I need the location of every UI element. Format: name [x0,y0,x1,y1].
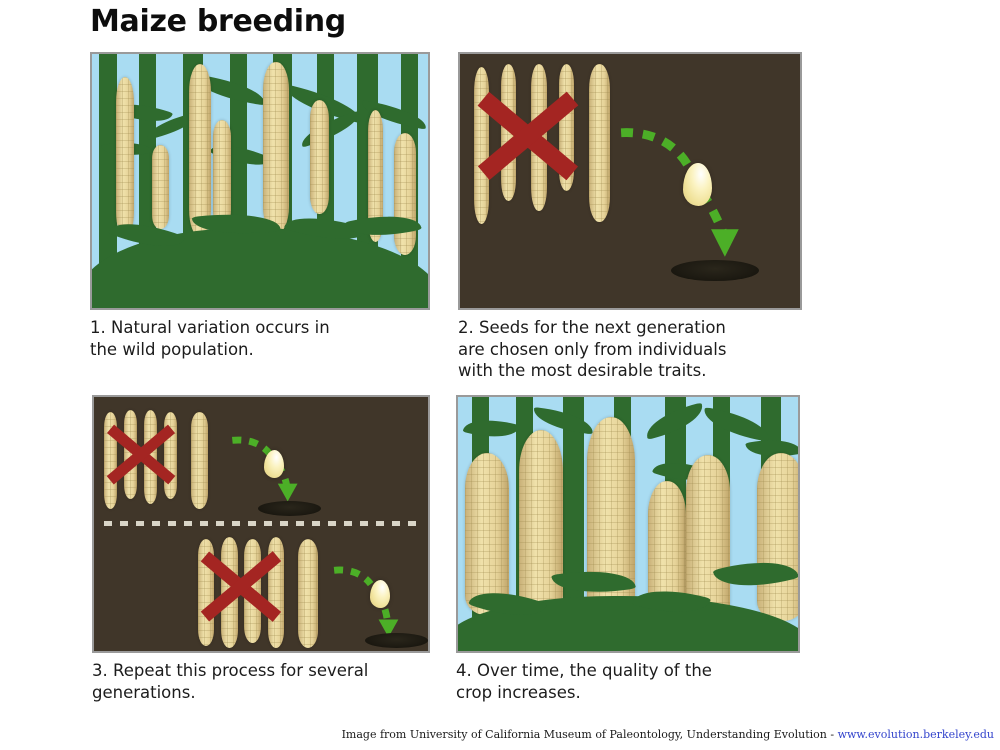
panel-3-caption: 3. Repeat this process for several gener… [92,660,452,703]
improved-maize-field-scene [458,397,798,651]
maize-cob [263,62,288,235]
maize-cob [394,133,416,255]
panel-1-caption: 1. Natural variation occurs in the wild … [90,317,450,360]
maize-cob [310,100,328,214]
maize-cob-large [519,430,563,618]
seed-selection-scene [460,54,800,308]
maize-seed [370,580,390,608]
panel-2-caption: 2. Seeds for the next generation are cho… [458,317,818,382]
maize-cob [152,145,169,229]
maize-cob [189,64,211,237]
maize-cob-large [465,453,509,616]
maize-seed [683,163,712,206]
maize-cob-large [757,453,800,621]
page-title: Maize breeding [90,4,346,39]
figure-panel-2: 2. Seeds for the next generation are cho… [458,52,818,382]
figure-panel-3: 3. Repeat this process for several gener… [92,395,452,703]
panel-4-image [456,395,800,653]
panel-4-caption: 4. Over time, the quality of the crop in… [456,660,816,703]
figure-panel-1: 1. Natural variation occurs in the wild … [90,52,450,360]
seed-path-arrow-icon [94,397,428,651]
figure-panel-4: 4. Over time, the quality of the crop in… [456,395,816,703]
repeat-generations-scene [94,397,428,651]
panel-1-image [90,52,430,310]
panel-3-image [92,395,430,653]
panel-2-image [458,52,802,310]
credit-link[interactable]: www.evolution.berkeley.edu [838,728,994,741]
maize-cob [213,120,231,227]
credit-text: Image from University of California Muse… [342,728,838,741]
maize-cob [116,77,134,237]
wild-maize-field-scene [92,54,428,308]
image-credit: Image from University of California Muse… [342,728,994,741]
